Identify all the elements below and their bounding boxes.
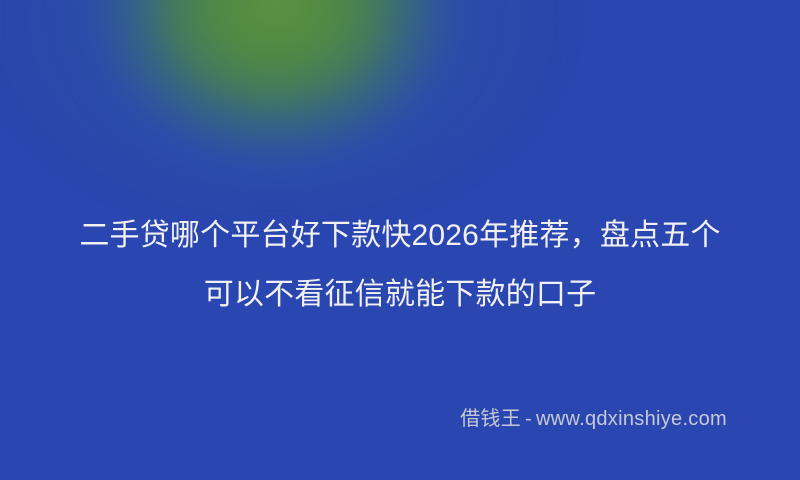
green-blob-haze (0, 0, 575, 230)
cover-canvas: 二手贷哪个平台好下款快2026年推荐，盘点五个 可以不看征信就能下款的口子 借钱… (0, 0, 800, 480)
watermark-url: www.qdxinshiye.com (536, 408, 727, 430)
watermark: 借钱王-www.qdxinshiye.com (0, 405, 800, 433)
page-title: 二手贷哪个平台好下款快2026年推荐，盘点五个 可以不看征信就能下款的口子 (0, 206, 800, 324)
green-radial-blob (55, 0, 495, 195)
watermark-separator: - (521, 408, 536, 430)
watermark-brand: 借钱王 (460, 408, 521, 430)
